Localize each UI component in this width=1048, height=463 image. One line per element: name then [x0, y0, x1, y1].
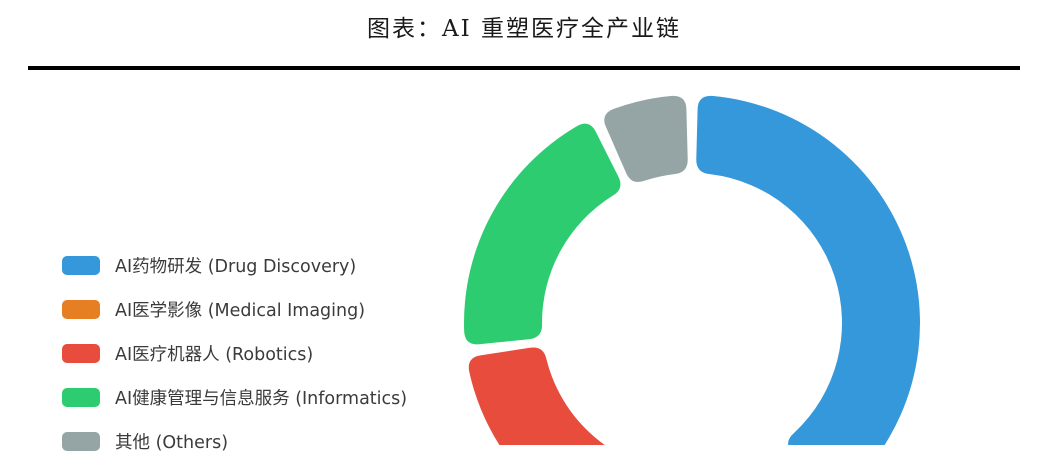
legend-swatch-drug-discovery: [62, 256, 100, 275]
legend-label-informatics: AI健康管理与信息服务 (Informatics): [115, 385, 407, 410]
donut-slice[interactable]: [696, 96, 920, 445]
legend-swatch-others: [62, 432, 100, 451]
legend-item-robotics[interactable]: AI医疗机器人 (Robotics): [62, 331, 462, 375]
title-divider: [28, 66, 1020, 70]
legend-swatch-robotics: [62, 344, 100, 363]
legend-item-drug-discovery[interactable]: AI药物研发 (Drug Discovery): [62, 243, 462, 287]
legend-label-drug-discovery: AI药物研发 (Drug Discovery): [115, 253, 356, 278]
donut-slice[interactable]: [604, 96, 687, 182]
chart-header: 图表：AI 重塑医疗全产业链: [0, 0, 1048, 70]
legend-label-medical-imaging: AI医学影像 (Medical Imaging): [115, 297, 365, 322]
chart-legend: AI药物研发 (Drug Discovery) AI医学影像 (Medical …: [62, 243, 462, 463]
page-title: 图表：AI 重塑医疗全产业链: [0, 9, 1048, 43]
donut-slice[interactable]: [464, 124, 620, 345]
legend-item-informatics[interactable]: AI健康管理与信息服务 (Informatics): [62, 375, 462, 419]
legend-item-others[interactable]: 其他 (Others): [62, 419, 462, 463]
legend-label-robotics: AI医疗机器人 (Robotics): [115, 341, 313, 366]
legend-swatch-medical-imaging: [62, 300, 100, 319]
donut-slice[interactable]: [469, 348, 714, 445]
legend-item-medical-imaging[interactable]: AI医学影像 (Medical Imaging): [62, 287, 462, 331]
legend-label-others: 其他 (Others): [115, 429, 228, 454]
legend-swatch-informatics: [62, 388, 100, 407]
